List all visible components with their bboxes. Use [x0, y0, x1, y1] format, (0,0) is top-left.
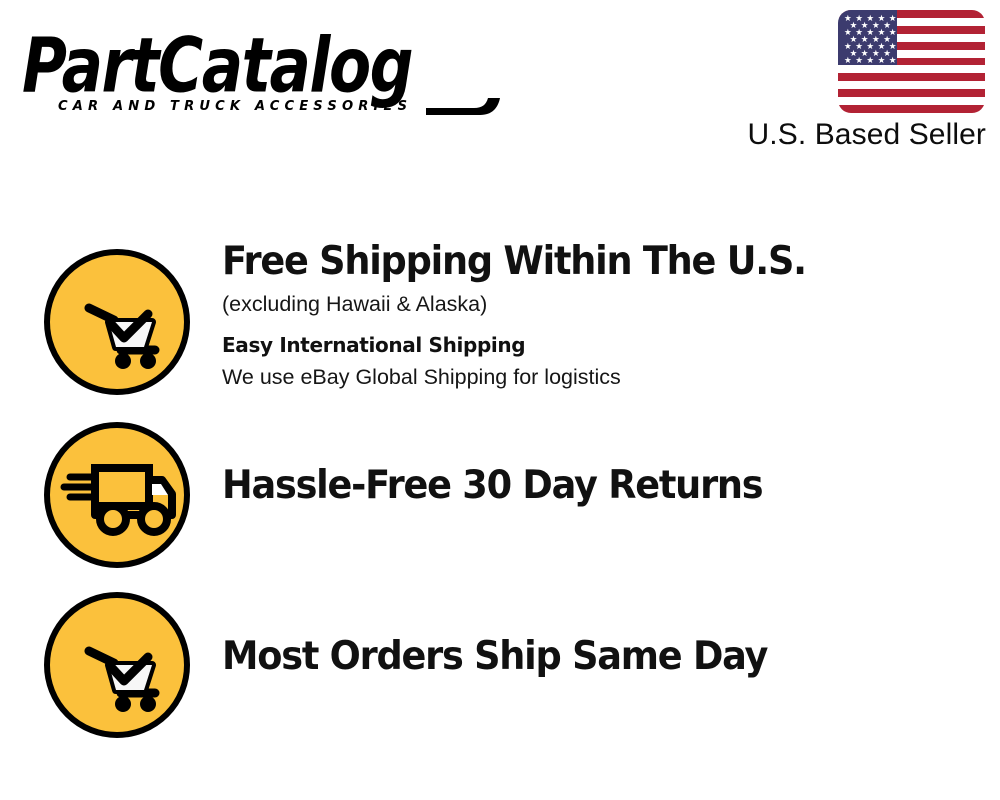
seller-badge: ★★★★★★★★★★★★★★★★★★★★★★★★★★★★★★★★ U.S. Ba…: [716, 10, 986, 155]
feature-text: Most Orders Ship Same Day: [222, 583, 982, 679]
us-flag-icon: ★★★★★★★★★★★★★★★★★★★★★★★★★★★★★★★★: [838, 10, 985, 113]
feature-text: Free Shipping Within The U.S. (excluding…: [222, 240, 982, 391]
flag-star: ★: [844, 57, 852, 66]
flag-stripe: [838, 89, 985, 97]
flag-stripe: [838, 73, 985, 81]
feature-subtitle: We use eBay Global Shipping for logistic…: [222, 364, 982, 391]
feature-note: (excluding Hawaii & Alaska): [222, 291, 982, 318]
feature-text: Hassle-Free 30 Day Returns: [222, 412, 982, 508]
feature-title: Most Orders Ship Same Day: [222, 635, 936, 679]
shopping-cart-check-icon: [42, 247, 192, 397]
flag-stripe: [838, 81, 985, 89]
feature-title: Free Shipping Within The U.S.: [222, 240, 936, 284]
flag-stripe: [838, 97, 985, 105]
flag-star: ★: [889, 57, 897, 66]
brand-tagline: CAR AND TRUCK ACCESSORIES: [58, 98, 412, 114]
brand-logo: PartCatalog CAR AND TRUCK ACCESSORIES: [22, 22, 492, 117]
feature-row: Free Shipping Within The U.S. (excluding…: [0, 240, 1000, 412]
flag-stripe: [838, 105, 985, 113]
flag-canton: ★★★★★★★★★★★★★★★★★★★★★★★★★★★★★★★★: [838, 10, 897, 65]
shopping-cart-check-icon: [42, 590, 192, 740]
feature-subtitle-strong: Easy International Shipping: [222, 332, 982, 358]
flag-star: ★: [855, 57, 863, 66]
logo-swoosh-icon: [418, 96, 504, 122]
feature-title: Hassle-Free 30 Day Returns: [222, 464, 936, 508]
feature-row: Hassle-Free 30 Day Returns: [0, 412, 1000, 583]
feature-row: Most Orders Ship Same Day: [0, 583, 1000, 755]
flag-star: ★: [878, 57, 886, 66]
seller-label: U.S. Based Seller: [748, 116, 986, 154]
flag-stripe: [838, 65, 985, 73]
delivery-truck-icon: [42, 420, 192, 570]
flag-star: ★: [866, 57, 874, 66]
